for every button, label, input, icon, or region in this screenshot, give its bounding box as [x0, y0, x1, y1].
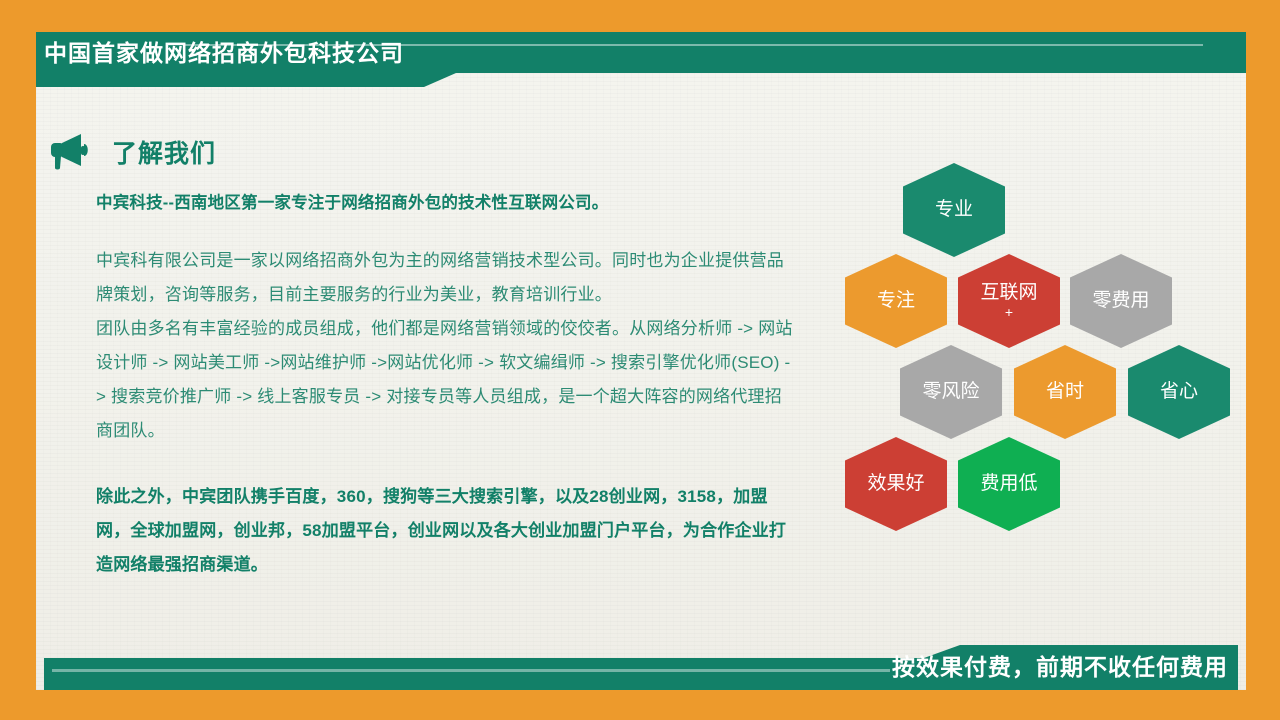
hexagon-tile: 省心 [1128, 345, 1230, 439]
hexagon-label: 效果好 [867, 473, 924, 495]
hexagon-label: 专业 [935, 199, 973, 221]
hexagon-label: 省时 [1046, 381, 1084, 403]
hexagon-sublabel: + [1005, 304, 1013, 320]
hexagon-label: 省心 [1160, 381, 1198, 403]
hexagon-tile: 零风险 [900, 345, 1002, 439]
footer-divider-line [52, 669, 890, 672]
hexagon-label: 专注 [877, 290, 915, 312]
hexagon-tile: 效果好 [845, 437, 947, 531]
footer-slogan: 按效果付费，前期不收任何费用 [892, 650, 1228, 684]
hexagon-label: 零风险 [922, 381, 979, 403]
hexagon-tile: 零费用 [1070, 254, 1172, 348]
hexagon-tile: 省时 [1014, 345, 1116, 439]
advantages-hexagon-cluster: 专业专注互联网+零费用零风险省时省心效果好费用低 [0, 0, 1280, 720]
hexagon-label: 费用低 [980, 473, 1037, 495]
hexagon-tile: 专注 [845, 254, 947, 348]
hexagon-tile: 费用低 [958, 437, 1060, 531]
hexagon-tile: 专业 [903, 163, 1005, 257]
hexagon-label: 互联网 [980, 282, 1037, 304]
hexagon-tile: 互联网+ [958, 254, 1060, 348]
hexagon-label: 零费用 [1092, 290, 1149, 312]
slide-root: 中国首家做网络招商外包科技公司 了解我们 中宾科技--西南地区第一家专注于网络招… [0, 0, 1280, 720]
